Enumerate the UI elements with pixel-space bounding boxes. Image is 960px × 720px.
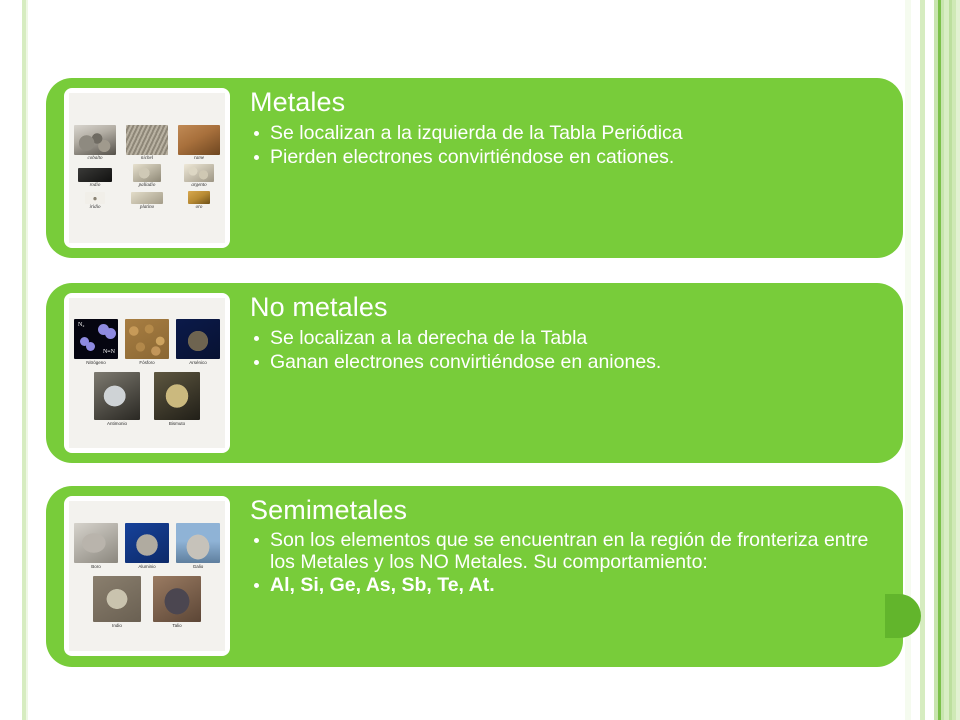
picture-frame-semimetales: Boro Aluminio Galio Indio Talio <box>64 496 230 656</box>
sample-caption: oro <box>196 204 203 211</box>
sample-cell: Indio <box>92 576 142 629</box>
sample-image <box>74 125 116 155</box>
sample-caption: Fósforo <box>139 359 154 366</box>
sample-image <box>78 168 112 182</box>
sample-cell: Fósforo <box>124 319 170 366</box>
sample-caption: Antimonio <box>107 420 127 427</box>
sample-image <box>74 523 118 563</box>
left-decorative-rule-inner <box>26 0 28 720</box>
sample-image <box>125 319 169 359</box>
sample-caption: Talio <box>172 622 181 629</box>
sample-caption: cobalto <box>88 155 103 162</box>
sample-caption: Arsénico <box>189 359 207 366</box>
photo-row: Antimonio Bismuto <box>69 372 225 427</box>
sample-caption: nichel <box>141 155 153 162</box>
sample-cell: nichel <box>124 125 170 162</box>
sample-image <box>153 576 201 622</box>
sample-image <box>126 125 168 155</box>
sample-cell: rodio <box>72 168 118 189</box>
sample-image <box>125 523 169 563</box>
metales-samples-photo: cobalto nichel rame rodio palladio argen… <box>69 93 225 243</box>
bullet-item: Se localizan a la derecha de la Tabla <box>250 327 885 350</box>
picture-frame-metales: cobalto nichel rame rodio palladio argen… <box>64 88 230 248</box>
bullet-list-metales: Se localizan a la izquierda de la Tabla … <box>250 122 885 169</box>
photo-row: cobalto nichel rame <box>69 125 225 162</box>
photo-row: Boro Aluminio Galio <box>69 523 225 570</box>
bullet-item: Ganan electrones convirtiéndose en anion… <box>250 351 885 374</box>
sample-image <box>188 191 210 204</box>
bullet-item: Son los elementos que se encuentran en l… <box>250 529 885 573</box>
bullet-item: Al, Si, Ge, As, Sb, Te, At. <box>250 574 885 596</box>
card-semimetales: Boro Aluminio Galio Indio Talio Semimeta… <box>46 486 903 667</box>
sample-caption: Boro <box>91 563 101 570</box>
decorative-stripe <box>925 0 934 720</box>
slide-canvas: cobalto nichel rame rodio palladio argen… <box>0 0 960 720</box>
card-title-no-metales: No metales <box>250 291 885 323</box>
sample-caption: rame <box>194 155 204 162</box>
sample-image <box>184 164 214 182</box>
sample-cell: platino <box>124 192 170 211</box>
sample-cell: Arsénico <box>175 319 221 366</box>
bullet-list-no-metales: Se localizan a la derecha de la Tabla Ga… <box>250 327 885 374</box>
sample-cell: rame <box>176 125 222 162</box>
sample-cell: Galio <box>175 523 221 570</box>
sample-cell: Talio <box>152 576 202 629</box>
bullet-item: Pierden electrones convirtiéndose en cat… <box>250 146 885 169</box>
sample-caption: Bismuto <box>169 420 185 427</box>
decorative-stripe <box>956 0 960 720</box>
sample-caption: Galio <box>193 563 204 570</box>
card-text-metales: Metales Se localizan a la izquierda de l… <box>250 86 885 170</box>
sample-cell: cobalto <box>72 125 118 162</box>
card-no-metales: N₂ N≡N Nitrógeno Fósforo Arsénico Antimo… <box>46 283 903 463</box>
sample-cell: palladio <box>124 164 170 189</box>
sample-image <box>178 125 220 155</box>
sample-image <box>85 192 105 204</box>
sample-cell: Boro <box>73 523 119 570</box>
sample-cell: N₂ N≡N Nitrógeno <box>73 319 119 366</box>
sample-caption: iridio <box>89 204 100 211</box>
photo-row: rodio palladio argento <box>69 164 225 189</box>
sample-image <box>176 319 220 359</box>
card-text-semimetales: Semimetales Son los elementos que se enc… <box>250 494 885 597</box>
card-metales: cobalto nichel rame rodio palladio argen… <box>46 78 903 258</box>
card-text-no-metales: No metales Se localizan a la derecha de … <box>250 291 885 375</box>
sample-image <box>133 164 161 182</box>
sample-cell: Aluminio <box>124 523 170 570</box>
sample-cell: Bismuto <box>153 372 201 427</box>
sample-caption: palladio <box>139 182 156 189</box>
sample-caption: argento <box>191 182 206 189</box>
semimetales-samples-photo: Boro Aluminio Galio Indio Talio <box>69 501 225 651</box>
sample-caption: Indio <box>112 622 122 629</box>
molecule-formula-label: N₂ <box>78 322 84 328</box>
sample-caption: Nitrógeno <box>86 359 106 366</box>
card-title-metales: Metales <box>250 86 885 118</box>
sample-cell: oro <box>176 191 222 211</box>
sample-image <box>93 576 141 622</box>
molecule-bond-label: N≡N <box>103 349 115 355</box>
sample-image <box>154 372 200 420</box>
sample-cell: iridio <box>72 192 118 211</box>
sample-image <box>131 192 163 204</box>
sample-caption: platino <box>140 204 154 211</box>
sample-caption: Aluminio <box>138 563 155 570</box>
photo-row: Indio Talio <box>69 576 225 629</box>
sample-caption: rodio <box>90 182 101 189</box>
photo-row: iridio platino oro <box>69 191 225 211</box>
no-metales-samples-photo: N₂ N≡N Nitrógeno Fósforo Arsénico Antimo… <box>69 298 225 448</box>
sample-cell: Antimonio <box>93 372 141 427</box>
bullet-item: Se localizan a la izquierda de la Tabla … <box>250 122 885 145</box>
sample-cell: argento <box>176 164 222 189</box>
sample-image: N₂ N≡N <box>74 319 118 359</box>
picture-frame-no-metales: N₂ N≡N Nitrógeno Fósforo Arsénico Antimo… <box>64 293 230 453</box>
photo-row: N₂ N≡N Nitrógeno Fósforo Arsénico <box>69 319 225 366</box>
sample-image <box>176 523 220 563</box>
card-title-semimetales: Semimetales <box>250 494 885 526</box>
sample-image <box>94 372 140 420</box>
bullet-list-semimetales: Son los elementos que se encuentran en l… <box>250 529 885 596</box>
